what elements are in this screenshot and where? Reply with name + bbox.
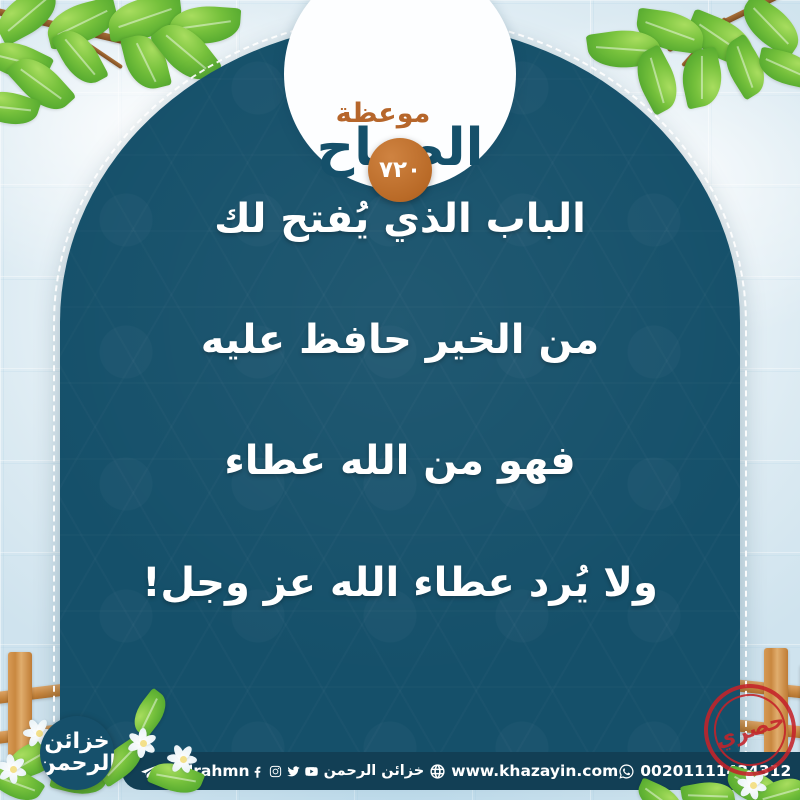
decor-flower: [126, 726, 160, 760]
exclusive-stamp-label: حصري: [705, 685, 796, 776]
facebook-icon[interactable]: [250, 764, 265, 779]
quote-line-4: ولا يُرد عطاء الله عز وجل!: [90, 560, 710, 607]
quote-line-2: من الخير حافظ عليه: [90, 317, 710, 364]
decor-flower: [166, 742, 200, 776]
quote-line-3: فهو من الله عطاء: [90, 438, 710, 485]
footer-social[interactable]: خزائن الرحمن: [250, 763, 430, 779]
issue-number-badge: ٧٢٠: [368, 138, 432, 202]
quote-line-1: الباب الذي يُفتح لك: [90, 196, 710, 243]
youtube-icon[interactable]: [304, 764, 319, 779]
footer-website[interactable]: www.khazayin.com: [429, 762, 618, 780]
decor-flower: [0, 752, 30, 786]
whatsapp-icon: [618, 763, 635, 780]
quote-block: الباب الذي يُفتح لك من الخير حافظ عليه ف…: [90, 196, 710, 607]
instagram-icon[interactable]: [268, 764, 283, 779]
footer-social-handle: خزائن الرحمن: [324, 763, 425, 779]
footer-social-icons[interactable]: [250, 764, 319, 779]
footer-website-url: www.khazayin.com: [451, 762, 618, 780]
twitter-icon[interactable]: [286, 764, 301, 779]
brand-badge-khazayin: خزائن الرحمن: [40, 716, 114, 790]
poster-canvas: موعظة الصباح ٧٢٠ الباب الذي يُفتح لك من …: [0, 0, 800, 800]
globe-icon: [429, 763, 446, 780]
